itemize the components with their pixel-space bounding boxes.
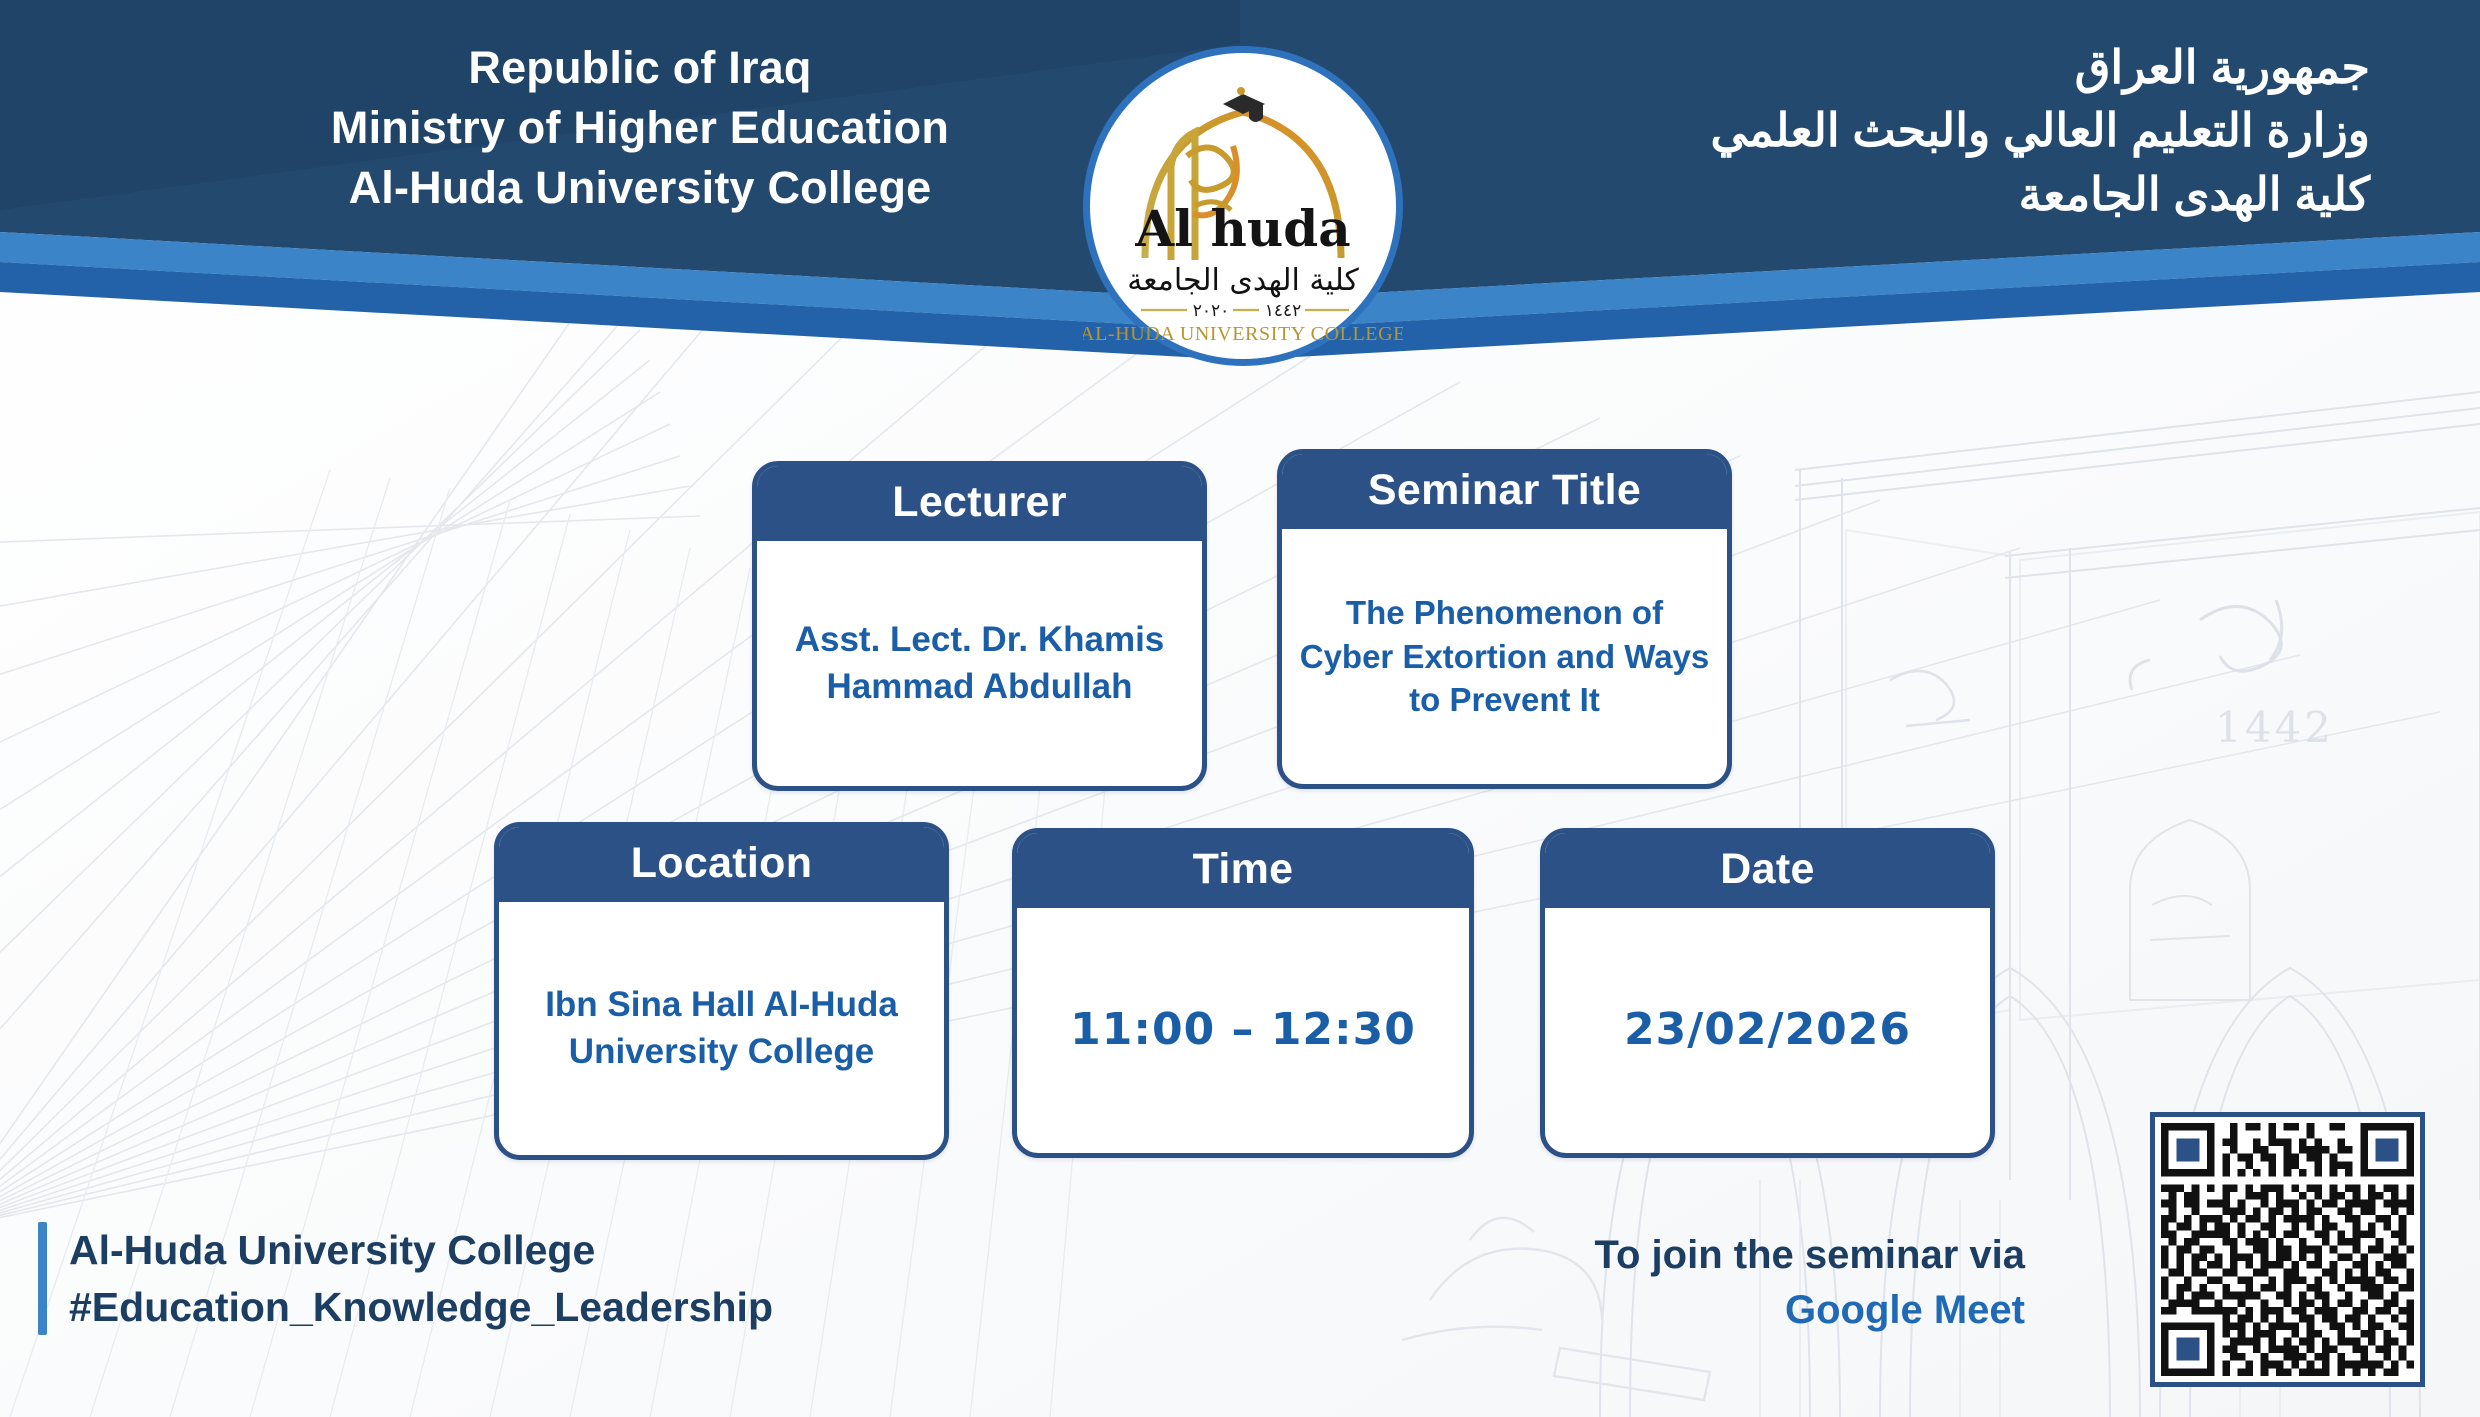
- header-ar-line-1: جمهورية العراق: [1350, 36, 2370, 99]
- footer-accent-bar: [38, 1222, 47, 1335]
- university-logo: Al huda كلية الهدى الجامعة ٢٠٢٠ ١٤٤٢ AL-…: [1083, 46, 1403, 366]
- header-arabic-block: جمهورية العراق وزارة التعليم العالي والب…: [1350, 36, 2370, 226]
- card-date-caption: Date: [1545, 833, 1990, 908]
- card-seminar-title: Seminar Title The Phenomenon of Cyber Ex…: [1277, 449, 1732, 789]
- card-lecturer: Lecturer Asst. Lect. Dr. Khamis Hammad A…: [752, 461, 1207, 791]
- header-en-line-3: Al-Huda University College: [100, 158, 1180, 218]
- header-en-line-1: Republic of Iraq: [100, 38, 1180, 98]
- card-location-value: Ibn Sina Hall Al-Huda University College: [499, 902, 944, 1155]
- card-date: Date 23/02/2026: [1540, 828, 1995, 1158]
- google-meet-qr-code[interactable]: [2150, 1112, 2425, 1387]
- footer-hashtag-line: #Education_Knowledge_Leadership: [69, 1279, 773, 1336]
- svg-text:1442: 1442: [2215, 703, 2334, 752]
- seminar-announcement-poster: 1442: [0, 0, 2480, 1417]
- header-ar-line-3: كلية الهدى الجامعة: [1350, 163, 2370, 226]
- card-lecturer-caption: Lecturer: [757, 466, 1202, 541]
- header-ar-line-2: وزارة التعليم العالي والبحث العلمي: [1350, 99, 2370, 162]
- logo-subtitle: AL-HUDA UNIVERSITY COLLEGE: [1083, 323, 1403, 345]
- join-line-1: To join the seminar via: [1595, 1228, 2025, 1283]
- card-time-value: 11:00 – 12:30: [1017, 908, 1469, 1153]
- logo-year-gregorian: ٢٠٢٠: [1193, 301, 1230, 321]
- join-line-2: Google Meet: [1595, 1283, 2025, 1338]
- card-location-caption: Location: [499, 827, 944, 902]
- card-time: Time 11:00 – 12:30: [1012, 828, 1474, 1158]
- card-lecturer-value: Asst. Lect. Dr. Khamis Hammad Abdullah: [757, 541, 1202, 786]
- footer-org-line: Al-Huda University College: [69, 1222, 773, 1279]
- footer-lines: Al-Huda University College #Education_Kn…: [69, 1222, 773, 1335]
- card-location: Location Ibn Sina Hall Al-Huda Universit…: [494, 822, 949, 1160]
- logo-year-hijri: ١٤٤٢: [1265, 301, 1302, 321]
- footer-branding: Al-Huda University College #Education_Kn…: [38, 1222, 773, 1335]
- logo-wordmark: Al huda: [1134, 199, 1350, 258]
- logo-arabic-name: كلية الهدى الجامعة: [1127, 263, 1359, 298]
- card-seminar-caption: Seminar Title: [1282, 454, 1727, 529]
- join-seminar-note: To join the seminar via Google Meet: [1595, 1228, 2025, 1338]
- header-en-line-2: Ministry of Higher Education: [100, 98, 1180, 158]
- card-time-caption: Time: [1017, 833, 1469, 908]
- card-date-value: 23/02/2026: [1545, 908, 1990, 1153]
- card-seminar-value: The Phenomenon of Cyber Extortion and Wa…: [1282, 529, 1727, 784]
- header-english-block: Republic of Iraq Ministry of Higher Educ…: [100, 38, 1180, 218]
